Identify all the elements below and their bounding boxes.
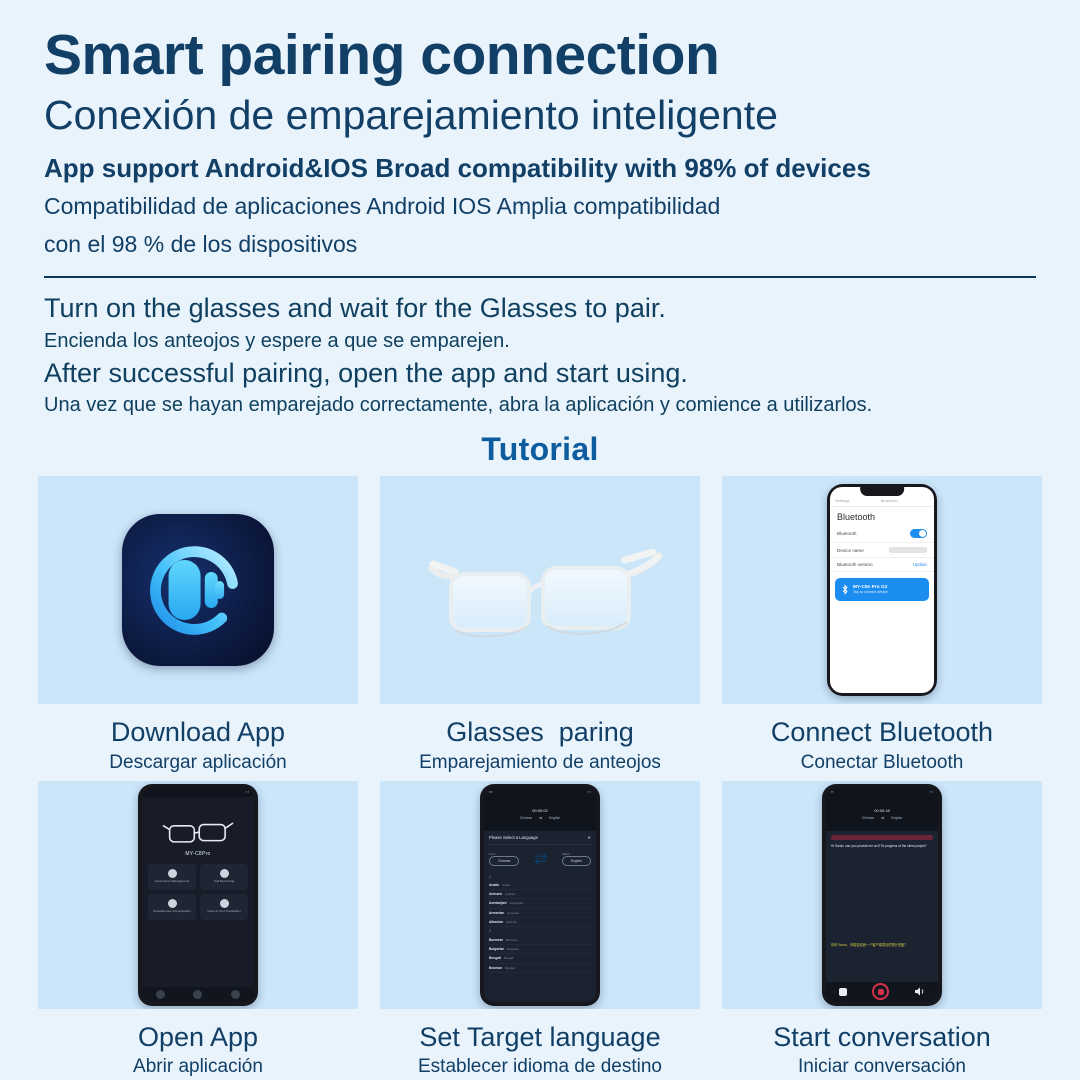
- instruction-1-en: Turn on the glasses and wait for the Gla…: [44, 292, 1040, 324]
- lang-name: Bosnian: [489, 966, 502, 970]
- conversation-header: 00:00:18 Chinese ⇄ English: [826, 797, 938, 831]
- gear-icon: [220, 899, 229, 908]
- conversation-status-bar: ▪▪▪ ▪: [826, 788, 938, 797]
- tutorial-heading: Tutorial: [0, 431, 1080, 468]
- bluetooth-settings-screen: Settings Bluetooth Bluetooth Bluetooth D…: [830, 487, 934, 693]
- app-home-screen: ▪ ▪ MY-C8Pro: [142, 788, 254, 1002]
- thumb-bluetooth-phone: Settings Bluetooth Bluetooth Bluetooth D…: [722, 476, 1042, 704]
- session-timer: 00:00:02: [532, 808, 548, 813]
- phone-mockup-language: ▪▪▪▪ ▪ 00:00:02 Chinese ⇄ English: [480, 784, 600, 1006]
- bluetooth-version-row[interactable]: Bluetooth version Update: [830, 558, 934, 572]
- list-item[interactable]: AlbanianAlbanian: [489, 918, 591, 927]
- tutorial-step-start-conversation: ▪▪▪ ▪ 00:00:18 Chinese ⇄ English: [722, 781, 1042, 1077]
- lang-name: Burmese: [489, 938, 503, 942]
- source-language[interactable]: Chinese: [862, 816, 874, 820]
- instruction-1-es: Encienda los anteojos y espere a que se …: [44, 329, 1040, 353]
- close-icon[interactable]: ✕: [587, 835, 591, 840]
- compatibility-line-en: App support Android&IOS Broad compatibil…: [44, 153, 1040, 184]
- glasses-illustration-icon: [161, 817, 235, 847]
- thumb-language-phone: ▪▪▪▪ ▪ 00:00:02 Chinese ⇄ English: [380, 781, 700, 1009]
- lang-name: Bengali: [489, 956, 501, 960]
- transcript-translated: 你好 Sarah，你能否给我一个客户端项目的预计进度？: [831, 943, 933, 947]
- highlight-bar: [831, 835, 933, 840]
- nav-title: Bluetooth: [881, 498, 898, 503]
- phone-mockup-conversation: ▪▪▪ ▪ 00:00:18 Chinese ⇄ English: [822, 784, 942, 1006]
- tab-settings-icon[interactable]: [231, 990, 240, 999]
- to-label: Native: [562, 852, 591, 856]
- voice-pill-icon: [169, 560, 201, 620]
- lang-native: Bengali: [504, 956, 513, 960]
- tile-label: Voice to Text Translation: [205, 910, 242, 913]
- phone-mockup-bluetooth: Settings Bluetooth Bluetooth Bluetooth D…: [827, 484, 937, 696]
- language-select-screen: ▪▪▪▪ ▪ 00:00:02 Chinese ⇄ English: [484, 788, 596, 1002]
- row-label: Bluetooth version: [837, 562, 873, 567]
- from-label: From: [489, 852, 519, 856]
- tutorial-step-download-app: Download App Descargar aplicación: [38, 476, 358, 772]
- swap-icon[interactable]: ⇄: [534, 849, 547, 869]
- target-language[interactable]: English: [549, 816, 560, 820]
- tab-home-icon[interactable]: [156, 990, 165, 999]
- list-item[interactable]: ArabicArabic: [489, 881, 591, 890]
- list-section-header: B: [489, 927, 591, 935]
- bluetooth-toggle[interactable]: [910, 529, 927, 538]
- voice-bar-small-icon: [215, 581, 224, 599]
- lang-name: Azerbaijani: [489, 901, 507, 905]
- tutorial-step-set-target-language: ▪▪▪▪ ▪ 00:00:02 Chinese ⇄ English: [380, 781, 700, 1077]
- caption-en: Set Target language: [419, 1023, 660, 1051]
- tile-label: Simultaneous Interpretation: [151, 910, 193, 913]
- tutorial-grid: Download App Descargar aplicación: [0, 468, 1080, 1077]
- conversation-screen: ▪▪▪ ▪ 00:00:18 Chinese ⇄ English: [826, 788, 938, 1002]
- list-item[interactable]: BurmeseBurmese: [489, 935, 591, 944]
- paired-device-item[interactable]: MY-C8s Pro G2 Tap to connect device: [835, 578, 929, 601]
- from-select[interactable]: Chinese: [489, 856, 519, 866]
- lang-native: Albanian: [506, 920, 517, 924]
- lang-native: Bulgarian: [507, 947, 519, 951]
- list-item[interactable]: AmharicAmharic: [489, 890, 591, 899]
- conversation-controls: [826, 982, 938, 1002]
- app-tab-bar: [142, 987, 254, 1002]
- lang-native: Amharic: [505, 892, 515, 896]
- caption-en: Start conversation: [773, 1023, 991, 1051]
- lang-native: Bosnian: [505, 966, 515, 970]
- caption-es: Emparejamiento de anteojos: [419, 753, 661, 773]
- translate-icon: [168, 899, 177, 908]
- lang-name: Albanian: [489, 920, 503, 924]
- swap-icon[interactable]: ⇄: [881, 816, 884, 820]
- caption-es: Iniciar conversación: [798, 1057, 966, 1077]
- list-item[interactable]: BulgarianBulgarian: [489, 945, 591, 954]
- dialog-header: Please Select a Language ✕: [489, 835, 591, 845]
- caption-en: Connect Bluetooth: [771, 718, 993, 746]
- caption-es: Descargar aplicación: [109, 753, 286, 773]
- update-link[interactable]: Update: [913, 562, 927, 567]
- bluetooth-toggle-row[interactable]: Bluetooth: [830, 525, 934, 543]
- lang-native: Armenian: [507, 911, 519, 915]
- session-timer: 00:00:18: [874, 808, 890, 813]
- language-switcher[interactable]: Chinese ⇄ English: [520, 816, 560, 820]
- phone-notch: [860, 487, 904, 496]
- list-item[interactable]: BosnianBosnian: [489, 964, 591, 973]
- caption-es: Establecer idioma de destino: [418, 1057, 662, 1077]
- caption-en: Glasses paring: [446, 718, 634, 746]
- device-name-value: [889, 547, 927, 553]
- tile-voice-to-text[interactable]: Voice to Text Translation: [200, 894, 248, 920]
- list-section-header: A: [489, 873, 591, 881]
- speaker-icon[interactable]: [915, 983, 925, 1001]
- lang-name: Amharic: [489, 892, 502, 896]
- caption-es: Abrir aplicación: [133, 1057, 263, 1077]
- page-title-en: Smart pairing connection: [44, 26, 1040, 85]
- caption-es: Conectar Bluetooth: [801, 753, 964, 773]
- tile-call-recording[interactable]: Call Recording: [200, 864, 248, 890]
- record-button[interactable]: [872, 983, 889, 1000]
- instruction-2-en: After successful pairing, open the app a…: [44, 357, 1040, 389]
- dialog-selectors: From Chinese ⇄ Native English: [489, 845, 591, 873]
- lang-native: Arabic: [502, 883, 510, 887]
- target-language[interactable]: English: [891, 816, 902, 820]
- device-status: Tap to connect device: [853, 590, 888, 594]
- smart-glasses-icon: [415, 530, 665, 650]
- thumb-app-phone: ▪ ▪ MY-C8Pro: [38, 781, 358, 1009]
- tab-records-icon[interactable]: [193, 990, 202, 999]
- app-main-area: MY-C8Pro Connection Management Call Reco…: [142, 797, 254, 987]
- row-label: Device name: [837, 548, 864, 553]
- link-icon: [168, 869, 177, 878]
- language-switcher[interactable]: Chinese ⇄ English: [862, 816, 902, 820]
- feature-tiles: Connection Management Call Recording Sim…: [148, 864, 248, 920]
- lang-name: Arabic: [489, 883, 499, 887]
- status-icons: ▪ ▪: [246, 790, 249, 794]
- lang-native: Azerbaijani: [510, 901, 524, 905]
- language-dialog: Please Select a Language ✕ From Chinese …: [484, 831, 596, 1002]
- lang-name: Bulgarian: [489, 947, 504, 951]
- row-label: Bluetooth: [837, 531, 856, 536]
- compatibility-line-es-1: Compatibilidad de aplicaciones Android I…: [44, 191, 1040, 222]
- bluetooth-page-title: Bluetooth: [830, 507, 934, 525]
- list-item[interactable]: AzerbaijaniAzerbaijani: [489, 899, 591, 908]
- header: Smart pairing connection Conexión de emp…: [0, 0, 1080, 260]
- list-item[interactable]: BengaliBengali: [489, 954, 591, 963]
- language-status-bar: ▪▪▪▪ ▪: [484, 788, 596, 797]
- page-title-es: Conexión de emparejamiento inteligente: [44, 93, 1040, 139]
- record-dot-icon: [878, 989, 884, 995]
- microphone-icon: [220, 869, 229, 878]
- keyboard-icon[interactable]: [839, 988, 847, 996]
- phone-mockup-app: ▪ ▪ MY-C8Pro: [138, 784, 258, 1006]
- thumb-glasses: [380, 476, 700, 704]
- lang-name: Armenian: [489, 911, 504, 915]
- dialog-title: Please Select a Language: [489, 835, 538, 840]
- instructions: Turn on the glasses and wait for the Gla…: [0, 278, 1080, 417]
- tile-label: Call Recording: [212, 880, 236, 883]
- infographic-page: Smart pairing connection Conexión de emp…: [0, 0, 1080, 1080]
- lang-native: Burmese: [506, 938, 517, 942]
- connected-device-name: MY-C8Pro: [185, 851, 210, 857]
- back-label[interactable]: Settings: [835, 498, 849, 503]
- thumb-conversation-phone: ▪▪▪ ▪ 00:00:18 Chinese ⇄ English: [722, 781, 1042, 1009]
- to-select[interactable]: English: [562, 856, 591, 866]
- list-item[interactable]: ArmenianArmenian: [489, 909, 591, 918]
- caption-en: Download App: [111, 718, 285, 746]
- caption-en: Open App: [138, 1023, 258, 1051]
- device-name-row[interactable]: Device name: [830, 543, 934, 558]
- swap-icon[interactable]: ⇄: [539, 816, 542, 820]
- tutorial-step-open-app: ▪ ▪ MY-C8Pro: [38, 781, 358, 1077]
- language-header: 00:00:02 Chinese ⇄ English: [484, 797, 596, 831]
- language-list[interactable]: A ArabicArabic AmharicAmharic Azerbaijan…: [489, 873, 591, 998]
- transcript-source: Hi Sarah, can you provide me an ETA prog…: [831, 844, 933, 848]
- tile-simultaneous-interpretation[interactable]: Simultaneous Interpretation: [148, 894, 196, 920]
- instruction-2-es: Una vez que se hayan emparejado correcta…: [44, 393, 1040, 417]
- source-language[interactable]: Chinese: [520, 816, 532, 820]
- tutorial-step-connect-bluetooth: Settings Bluetooth Bluetooth Bluetooth D…: [722, 476, 1042, 772]
- tile-label: Connection Management: [153, 880, 192, 883]
- app-icon: [122, 514, 274, 666]
- bluetooth-icon: [841, 584, 849, 595]
- tile-connection-management[interactable]: Connection Management: [148, 864, 196, 890]
- thumb-download-app: [38, 476, 358, 704]
- compatibility-line-es-2: con el 98 % de los dispositivos: [44, 229, 1040, 260]
- app-status-bar: ▪ ▪: [142, 788, 254, 797]
- transcript-area: Hi Sarah, can you provide me an ETA prog…: [826, 831, 938, 982]
- tutorial-step-glasses-paring: Glasses paring Emparejamiento de anteojo…: [380, 476, 700, 772]
